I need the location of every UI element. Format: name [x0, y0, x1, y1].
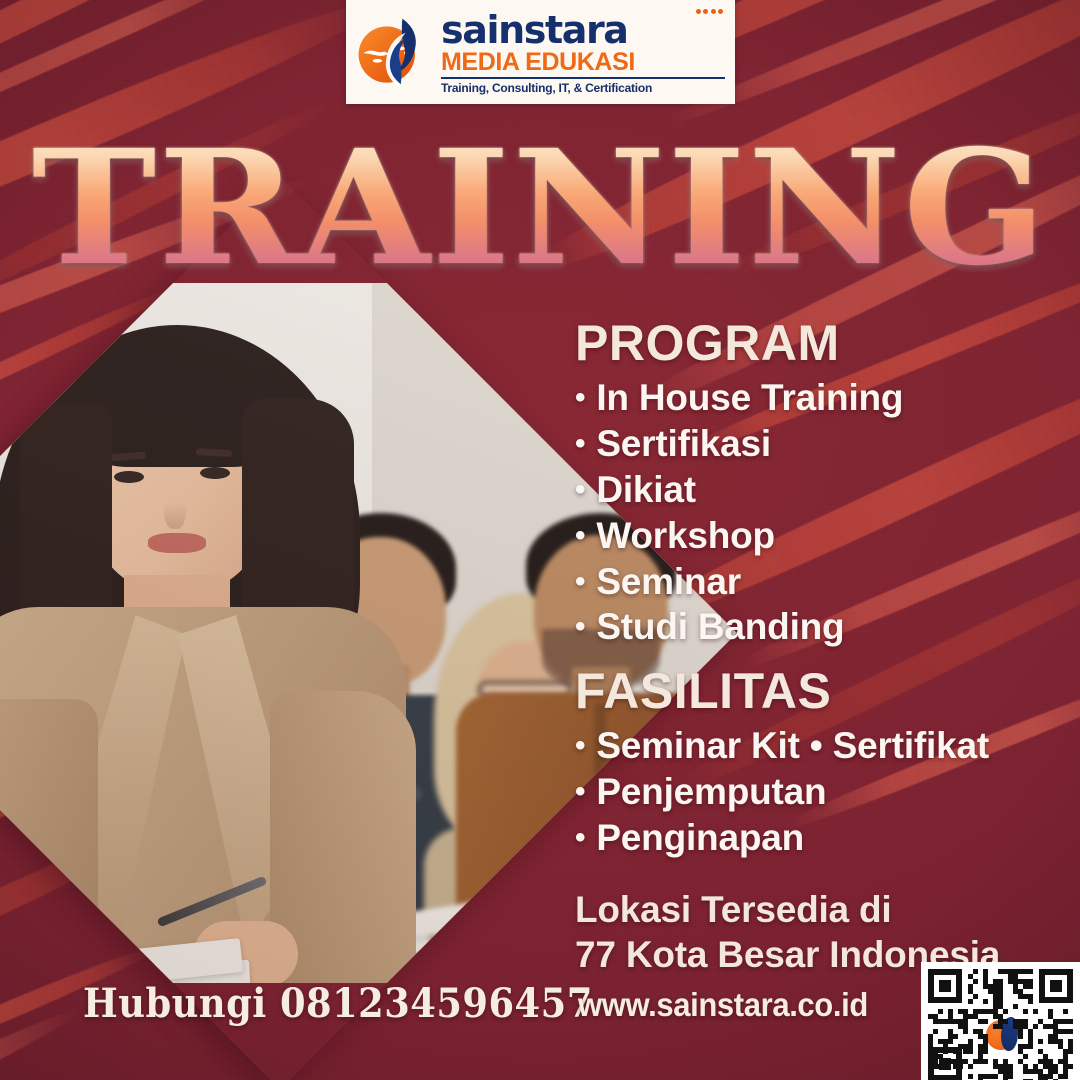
training-promo-poster: sainstara MEDIA EDUKASI Training, Consul… [0, 0, 1080, 1080]
list-item: •Sertifikasi [575, 421, 1045, 467]
list-item: •Workshop [575, 513, 1045, 559]
list-item: •Studi Banding [575, 604, 1045, 650]
fasilitas-list: •Seminar Kit • Sertifikat •Penjemputan •… [575, 723, 1045, 861]
program-list: •In House Training •Sertifikasi •Dikiat … [575, 375, 1045, 650]
fasilitas-heading: FASILITAS [575, 666, 1045, 717]
list-item: •Seminar Kit • Sertifikat [575, 723, 1045, 769]
info-column: PROGRAM •In House Training •Sertifikasi … [575, 318, 1045, 977]
contact-phone[interactable]: Hubungi 081234596457 [83, 980, 593, 1027]
location-line-1: Lokasi Tersedia di [575, 887, 1045, 932]
brand-logo-header: sainstara MEDIA EDUKASI Training, Consul… [346, 0, 735, 104]
bullet-icon: • [575, 521, 585, 551]
logo-subtitle: MEDIA EDUKASI [441, 50, 725, 79]
bullet-icon: • [575, 429, 585, 459]
bullet-icon: • [575, 475, 585, 505]
qr-code-icon [928, 969, 1073, 1080]
sainstara-flame-indonesia-logo-icon [354, 14, 432, 92]
qr-code[interactable] [921, 962, 1080, 1080]
page-title: TRAINING [0, 130, 1080, 288]
bullet-icon: • [575, 567, 585, 597]
contact-website[interactable]: www.sainstara.co.id [578, 986, 868, 1024]
list-item: •In House Training [575, 375, 1045, 421]
logo-tagline: Training, Consulting, IT, & Certificatio… [441, 82, 716, 94]
logo-wordmark: sainstara [441, 11, 725, 49]
bullet-icon: • [575, 823, 585, 853]
bullet-icon: • [575, 383, 585, 413]
list-item: •Seminar [575, 559, 1045, 605]
bullet-icon: • [575, 731, 585, 761]
logo-dots-icon [696, 9, 724, 14]
bullet-icon: • [575, 612, 585, 642]
bullet-icon: • [575, 777, 585, 807]
list-item: •Dikiat [575, 467, 1045, 513]
list-item: •Penjemputan [575, 769, 1045, 815]
list-item: •Penginapan [575, 815, 1045, 861]
program-heading: PROGRAM [575, 318, 1045, 369]
